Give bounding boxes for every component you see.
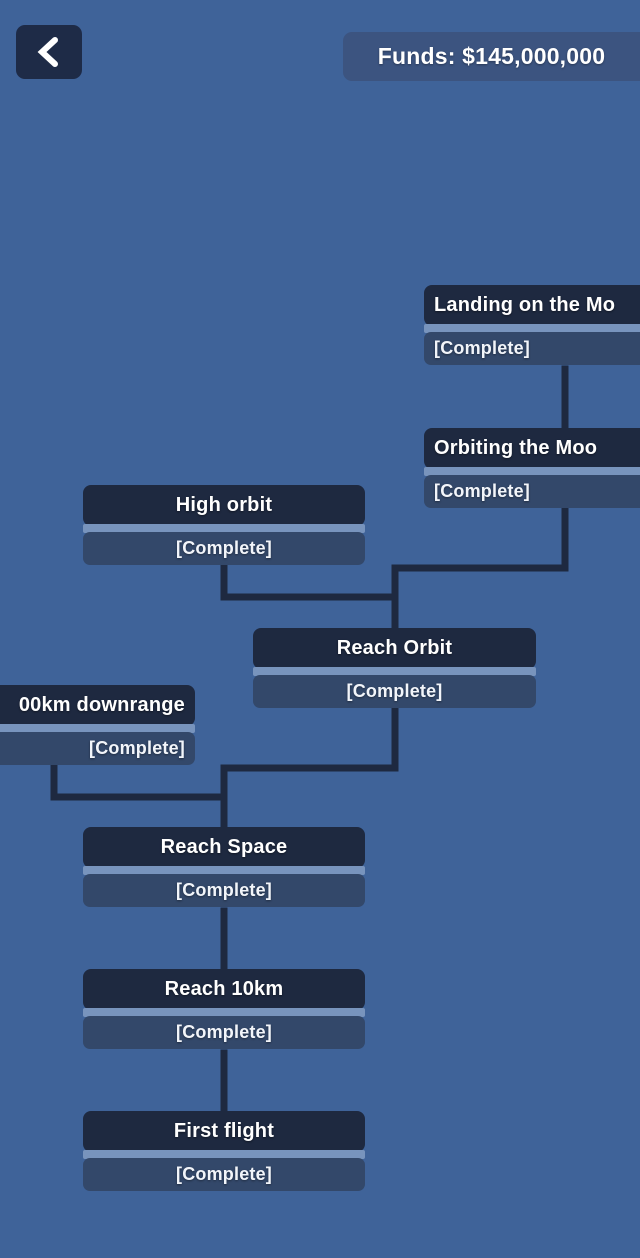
tech-node-title-text: Landing on the Mo — [434, 294, 615, 317]
tech-node-reach-10km[interactable]: Reach 10km [Complete] — [83, 969, 365, 1049]
tech-node-reach-orbit[interactable]: Reach Orbit [Complete] — [253, 628, 536, 708]
tech-node-status: [Complete] — [0, 732, 195, 765]
tech-node-title: Reach Space — [83, 827, 365, 868]
tech-node-title-text: Reach 10km — [165, 978, 284, 1001]
tech-node-status-text: [Complete] — [434, 481, 530, 502]
tech-node-title-text: First flight — [174, 1120, 274, 1143]
tech-node-title: Reach Orbit — [253, 628, 536, 669]
back-button[interactable] — [16, 25, 82, 79]
tech-node-orbiting-the-moon[interactable]: Orbiting the Moo [Complete] — [424, 428, 640, 508]
tech-node-status-text: [Complete] — [347, 681, 443, 702]
top-bar: Funds: $145,000,000 — [0, 0, 640, 110]
connector-reachorbit-to-reachspace — [224, 711, 395, 825]
tech-node-title-text: Reach Orbit — [337, 637, 453, 660]
connector-downrange-to-reachspace — [54, 768, 224, 797]
tech-node-title-text: 00km downrange — [19, 694, 185, 717]
tech-node-status-text: [Complete] — [176, 1164, 272, 1185]
connector-highorbit-to-reachorbit — [224, 568, 395, 597]
tech-node-status-text: [Complete] — [434, 338, 530, 359]
tech-node-title-text: High orbit — [176, 494, 272, 517]
tech-node-title: Orbiting the Moo — [424, 428, 640, 469]
chevron-left-icon — [36, 36, 62, 68]
tech-node-status: [Complete] — [83, 1158, 365, 1191]
connector-orbiting-to-reachorbit — [395, 511, 565, 625]
tech-node-status: [Complete] — [83, 532, 365, 565]
tech-node-high-orbit[interactable]: High orbit [Complete] — [83, 485, 365, 565]
tech-node-title: 00km downrange — [0, 685, 195, 726]
tech-node-first-flight[interactable]: First flight [Complete] — [83, 1111, 365, 1191]
tech-node-title-text: Reach Space — [161, 836, 288, 859]
tech-node-title: Reach 10km — [83, 969, 365, 1010]
tech-node-title: High orbit — [83, 485, 365, 526]
tech-node-status: [Complete] — [83, 874, 365, 907]
tech-node-status: [Complete] — [424, 475, 640, 508]
funds-display[interactable]: Funds: $145,000,000 — [343, 32, 640, 81]
tech-node-status-text: [Complete] — [176, 880, 272, 901]
tech-node-status: [Complete] — [83, 1016, 365, 1049]
funds-label: Funds: $145,000,000 — [378, 43, 606, 70]
tech-node-downrange[interactable]: 00km downrange [Complete] — [0, 685, 195, 765]
tech-node-status: [Complete] — [253, 675, 536, 708]
tech-node-status-text: [Complete] — [176, 1022, 272, 1043]
tech-tree: Landing on the Mo [Complete] Orbiting th… — [0, 0, 640, 1258]
tech-node-status-text: [Complete] — [176, 538, 272, 559]
tech-node-reach-space[interactable]: Reach Space [Complete] — [83, 827, 365, 907]
tech-node-title: First flight — [83, 1111, 365, 1152]
tech-node-status: [Complete] — [424, 332, 640, 365]
tech-node-title: Landing on the Mo — [424, 285, 640, 326]
tech-node-landing-on-the-moon[interactable]: Landing on the Mo [Complete] — [424, 285, 640, 365]
tech-node-status-text: [Complete] — [89, 738, 185, 759]
tech-node-title-text: Orbiting the Moo — [434, 437, 597, 460]
